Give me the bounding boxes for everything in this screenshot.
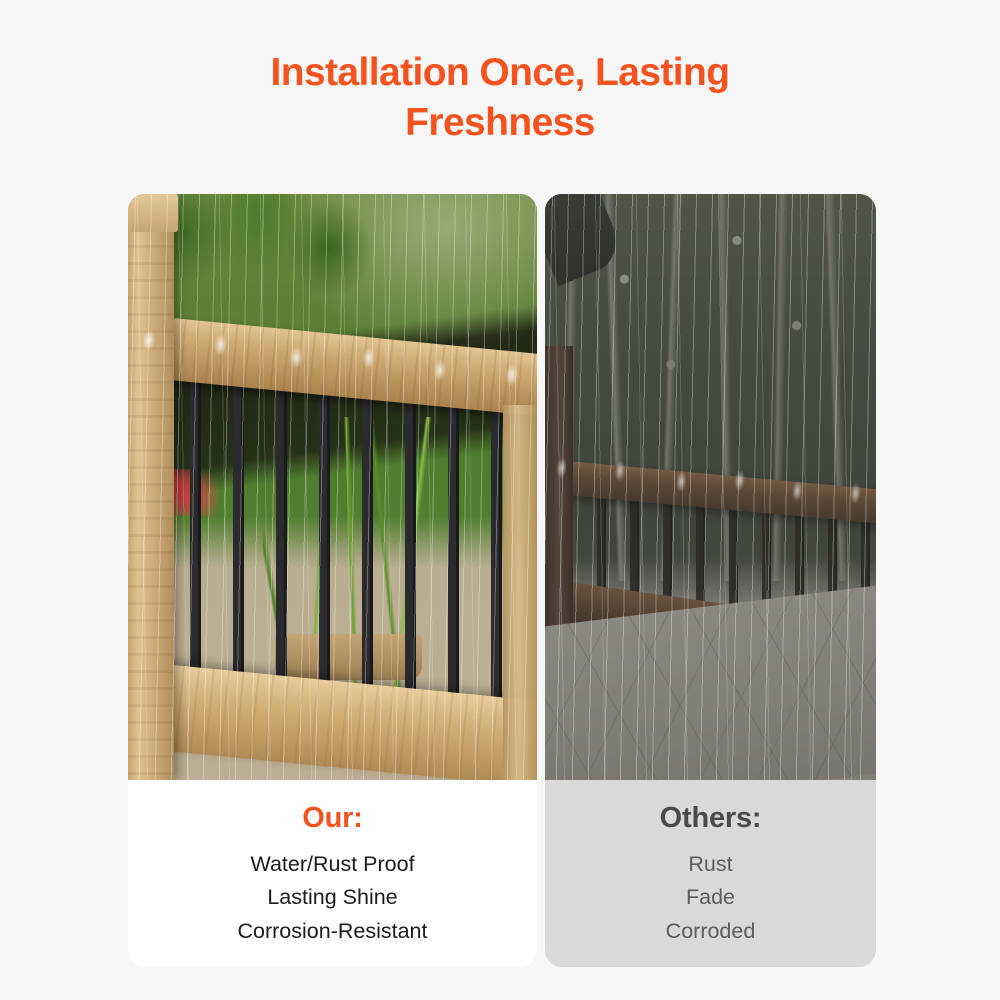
page-title-line-2: Freshness	[0, 98, 1000, 148]
product-photo-ours	[128, 194, 537, 780]
far-fence-post	[503, 405, 537, 780]
drawback-item: Rust	[688, 848, 732, 881]
caption-heading-others: Others:	[660, 802, 762, 835]
caption-others: Others: Rust Fade Corroded	[545, 780, 876, 967]
drawback-item: Corroded	[666, 915, 756, 948]
product-photo-others	[545, 194, 876, 780]
page-title-line-1: Installation Once, Lasting	[0, 48, 1000, 98]
drawback-item: Fade	[686, 881, 735, 914]
feature-item: Corrosion-Resistant	[238, 915, 428, 948]
comparison-section: Our: Water/Rust Proof Lasting Shine Corr…	[128, 194, 876, 967]
wood-fence-post	[128, 194, 174, 780]
caption-heading-ours: Our:	[302, 802, 362, 835]
caption-ours: Our: Water/Rust Proof Lasting Shine Corr…	[128, 780, 537, 967]
feature-item: Lasting Shine	[267, 881, 397, 914]
comparison-card-others: Others: Rust Fade Corroded	[545, 194, 876, 967]
comparison-card-ours: Our: Water/Rust Proof Lasting Shine Corr…	[128, 194, 537, 967]
feature-item: Water/Rust Proof	[250, 848, 414, 881]
fence-post-cap	[128, 194, 178, 232]
page-title: Installation Once, Lasting Freshness	[0, 48, 1000, 148]
